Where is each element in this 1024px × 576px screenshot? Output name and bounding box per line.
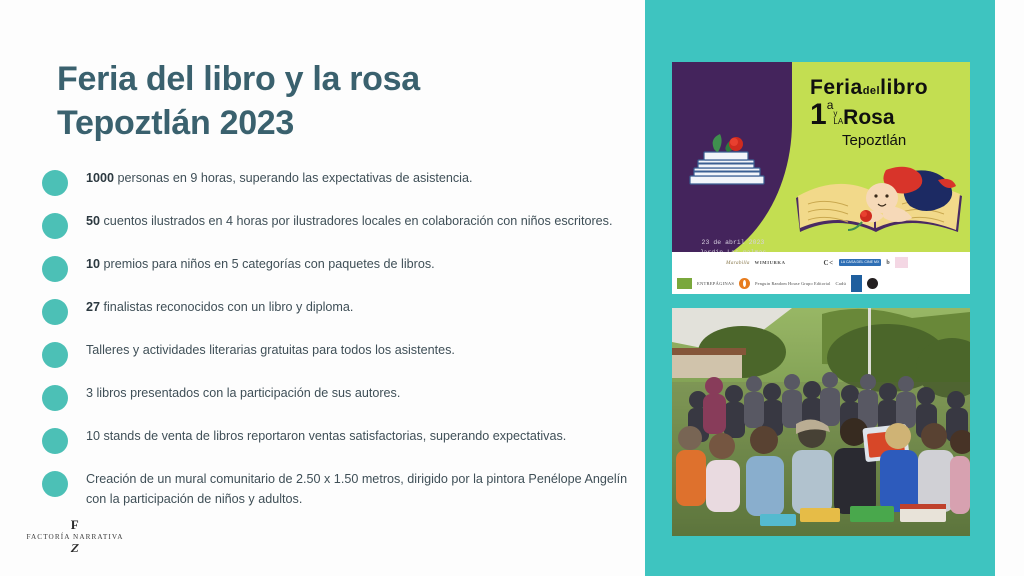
sponsor-logo-mark	[851, 275, 862, 292]
sponsor-logo-mark	[739, 278, 750, 289]
sponsor-logo: b	[886, 260, 890, 266]
bullet-dot-icon	[42, 213, 68, 239]
list-item-text: 1000 personas en 9 horas, superando las …	[86, 168, 632, 188]
list-item-body: premios para niños en 5 categorías con p…	[100, 257, 435, 271]
sponsor-row-1: Marabilla WIMIURKA C< LA CASA DEL CINE M…	[672, 252, 970, 273]
poster-heading: Feriadellibro 1ayLARosa Tepoztlán	[810, 76, 965, 149]
sponsor-logo-mark	[895, 257, 908, 268]
poster-ordinal-suffix: a	[827, 98, 834, 112]
page-title: Feria del libro y la rosa Tepoztlán 2023	[57, 58, 617, 145]
poster-word-yla: yLA	[833, 110, 843, 126]
sponsor-logo-mark	[867, 278, 878, 289]
bullet-dot-icon	[42, 471, 68, 497]
book-stack-illustration	[684, 128, 770, 190]
list-item-body: cuentos ilustrados en 4 horas por ilustr…	[100, 214, 612, 228]
list-item-text: 50 cuentos ilustrados en 4 horas por ilu…	[86, 211, 632, 231]
list-item-lead: 50	[86, 214, 100, 228]
list-item-lead: 1000	[86, 171, 114, 185]
list-item: 3 libros presentados con la participació…	[42, 383, 642, 411]
list-item: 10 premios para niños en 5 categorías co…	[42, 254, 642, 282]
poster-word-feria: Feria	[810, 76, 863, 99]
sponsor-logo-mark	[677, 278, 692, 289]
achievements-list: 1000 personas en 9 horas, superando las …	[42, 168, 642, 510]
poster-word-libro: libro	[880, 76, 928, 99]
list-item: 10 stands de venta de libros reportaron …	[42, 426, 642, 454]
poster-heading-line2: 1ayLARosa	[810, 98, 965, 132]
poster-word-rosa: Rosa	[843, 106, 894, 129]
list-item-text: 3 libros presentados con la participació…	[86, 383, 632, 403]
factoria-narrativa-logo: F FACTORÍA NARRATIVA Z	[20, 518, 130, 554]
poster-date: 23 de abril 2023	[678, 238, 788, 248]
left-content-column: Feria del libro y la rosa Tepoztlán 2023…	[0, 0, 645, 576]
list-item-text: Talleres y actividades literarias gratui…	[86, 340, 632, 360]
list-item: Creación de un mural comunitario de 2.50…	[42, 469, 642, 510]
poster-ordinal-number: 1	[810, 98, 827, 131]
bullet-dot-icon	[42, 385, 68, 411]
list-item: 50 cuentos ilustrados en 4 horas por ilu…	[42, 211, 642, 239]
title-line-2: Tepoztlán 2023	[57, 102, 617, 146]
list-item: 27 finalistas reconocidos con un libro y…	[42, 297, 642, 325]
sponsor-logo: C<	[824, 259, 834, 267]
sponsor-logo: Penguin Random House Grupo Editorial	[755, 281, 830, 286]
list-item-text: Creación de un mural comunitario de 2.50…	[86, 469, 632, 510]
poster-word-del: del	[863, 85, 880, 97]
bullet-dot-icon	[42, 170, 68, 196]
sponsor-logo: WIMIURKA	[755, 260, 786, 265]
poster-word-tepoztlan: Tepoztlán	[810, 132, 965, 149]
bullet-dot-icon	[42, 342, 68, 368]
list-item: Talleres y actividades literarias gratui…	[42, 340, 642, 368]
list-item-body: Talleres y actividades literarias gratui…	[86, 343, 455, 357]
sponsor-row-2: ENTREPÁGINAS Penguin Random House Grupo …	[672, 273, 970, 294]
event-poster-image: 23 de abril 2023 Jardín Las palmas 10 am…	[672, 62, 970, 294]
child-on-book-illustration	[790, 154, 970, 254]
list-item-body: personas en 9 horas, superando las expec…	[114, 171, 472, 185]
list-item-body: 3 libros presentados con la participació…	[86, 386, 400, 400]
list-item: 1000 personas en 9 horas, superando las …	[42, 168, 642, 196]
poster-sponsor-logos: Marabilla WIMIURKA C< LA CASA DEL CINE M…	[672, 252, 970, 294]
bullet-dot-icon	[42, 299, 68, 325]
list-item-lead: 10	[86, 257, 100, 271]
title-line-1: Feria del libro y la rosa	[57, 58, 617, 102]
poster-heading-line1: Feriadellibro	[810, 76, 965, 100]
event-photo	[672, 308, 970, 536]
bullet-dot-icon	[42, 256, 68, 282]
logo-name: FACTORÍA NARRATIVA	[20, 533, 130, 541]
list-item-body: Creación de un mural comunitario de 2.50…	[86, 472, 627, 506]
sponsor-logo: ENTREPÁGINAS	[697, 281, 734, 286]
sponsor-logo: Cadú	[835, 281, 846, 286]
bullet-dot-icon	[42, 428, 68, 454]
sponsor-logo: Marabilla	[726, 260, 750, 266]
logo-mark-top: F	[20, 518, 130, 531]
logo-mark-bottom: Z	[19, 542, 132, 554]
list-item-body: finalistas reconocidos con un libro y di…	[100, 300, 353, 314]
list-item-text: 10 stands de venta de libros reportaron …	[86, 426, 632, 446]
slide: Feria del libro y la rosa Tepoztlán 2023…	[0, 0, 1024, 576]
crowd-photo-illustration	[672, 308, 970, 536]
list-item-text: 27 finalistas reconocidos con un libro y…	[86, 297, 632, 317]
list-item-lead: 27	[86, 300, 100, 314]
list-item-text: 10 premios para niños en 5 categorías co…	[86, 254, 632, 274]
sponsor-logo: LA CASA DEL CINE MX	[839, 259, 882, 265]
list-item-body: 10 stands de venta de libros reportaron …	[86, 429, 566, 443]
